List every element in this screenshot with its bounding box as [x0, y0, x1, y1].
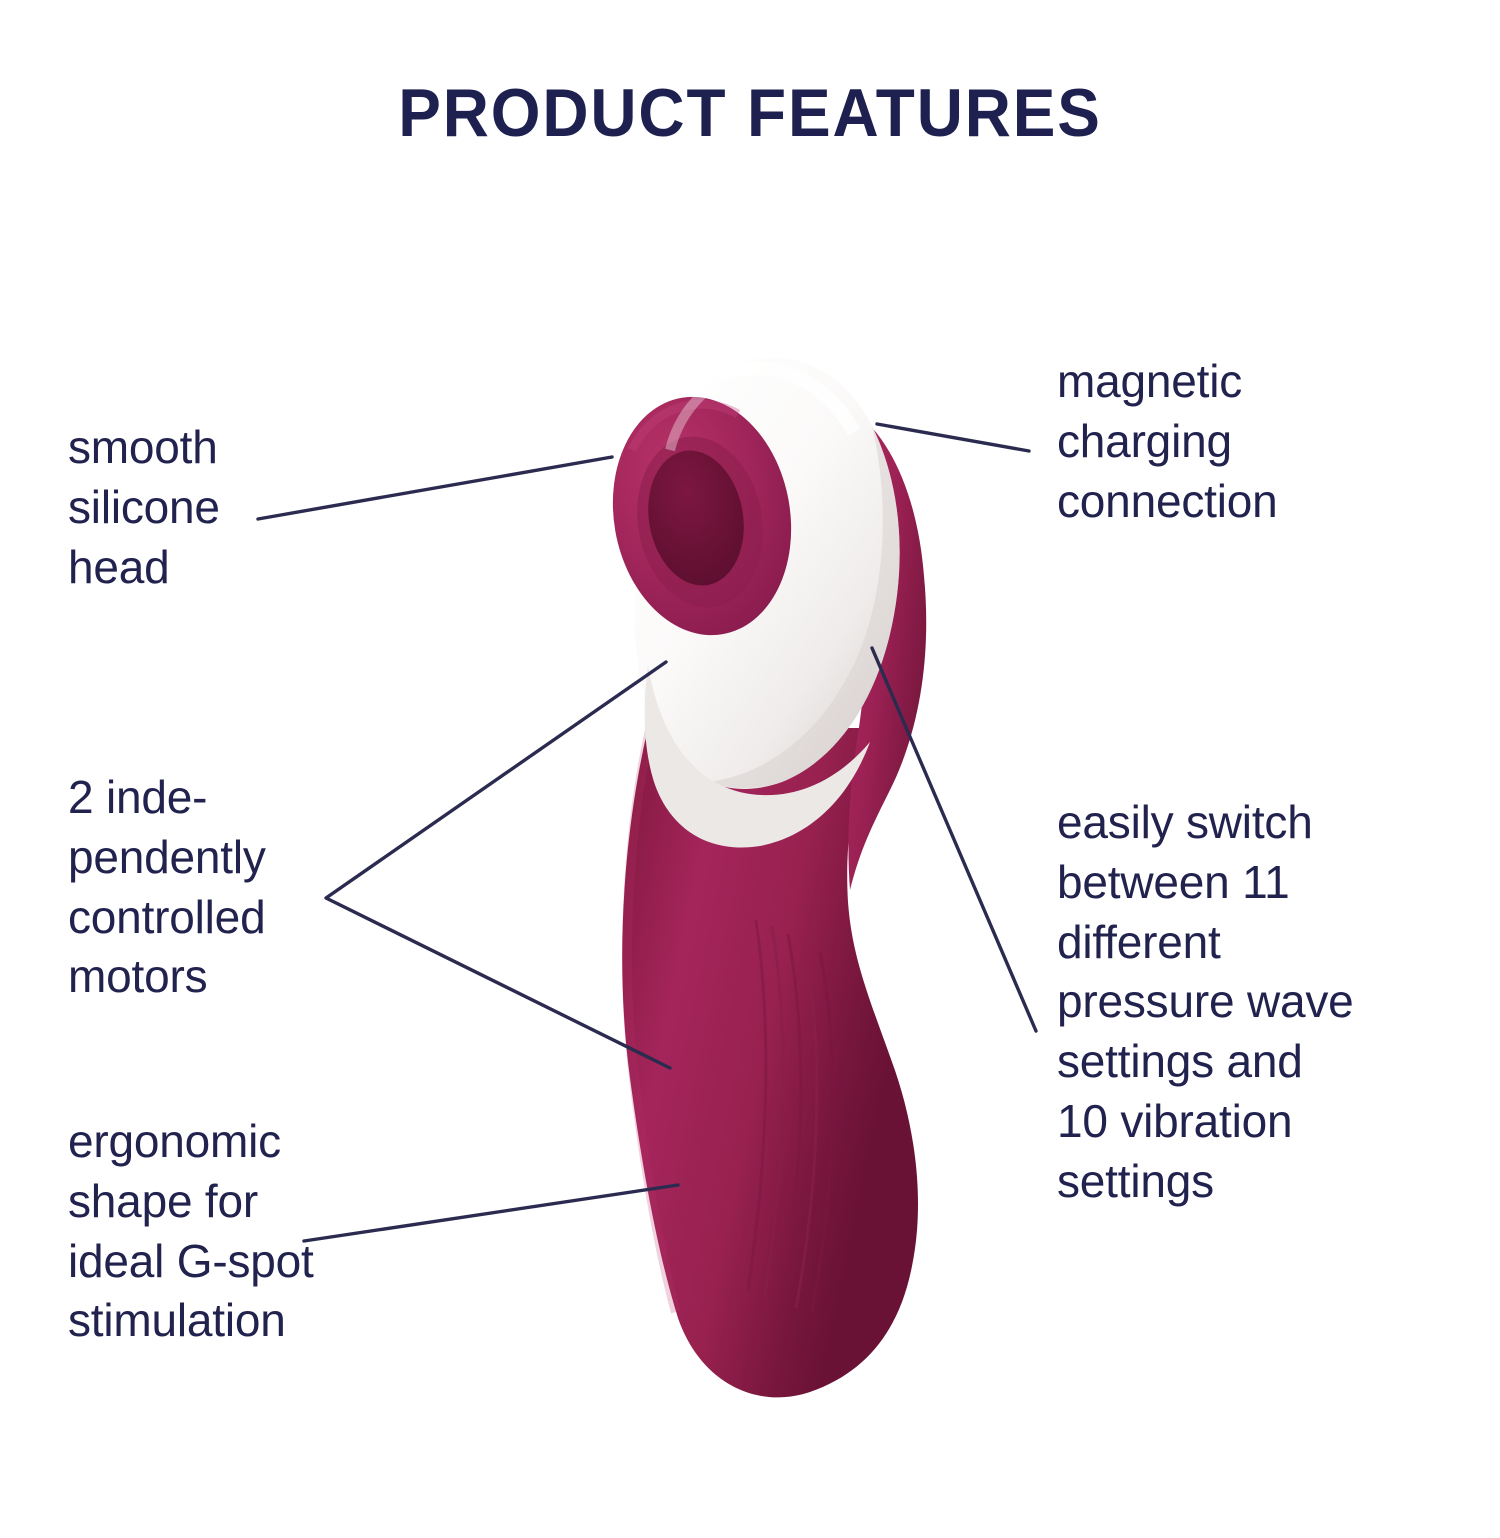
page-title: PRODUCT FEATURES	[45, 74, 1455, 152]
callout-magnetic-charging: magnetic charging connection	[1057, 352, 1457, 531]
product-features-infographic: PRODUCT FEATURES	[0, 0, 1500, 1538]
callout-pressure-vibration-settings: easily switch between 11 different press…	[1057, 793, 1457, 1212]
product-illustration	[520, 330, 990, 1420]
callout-independent-motors: 2 inde- pendently controlled motors	[68, 768, 398, 1007]
callout-ergonomic-shape: ergonomic shape for ideal G-spot stimula…	[68, 1112, 428, 1351]
callout-smooth-silicone-head: smooth silicone head	[68, 418, 398, 597]
